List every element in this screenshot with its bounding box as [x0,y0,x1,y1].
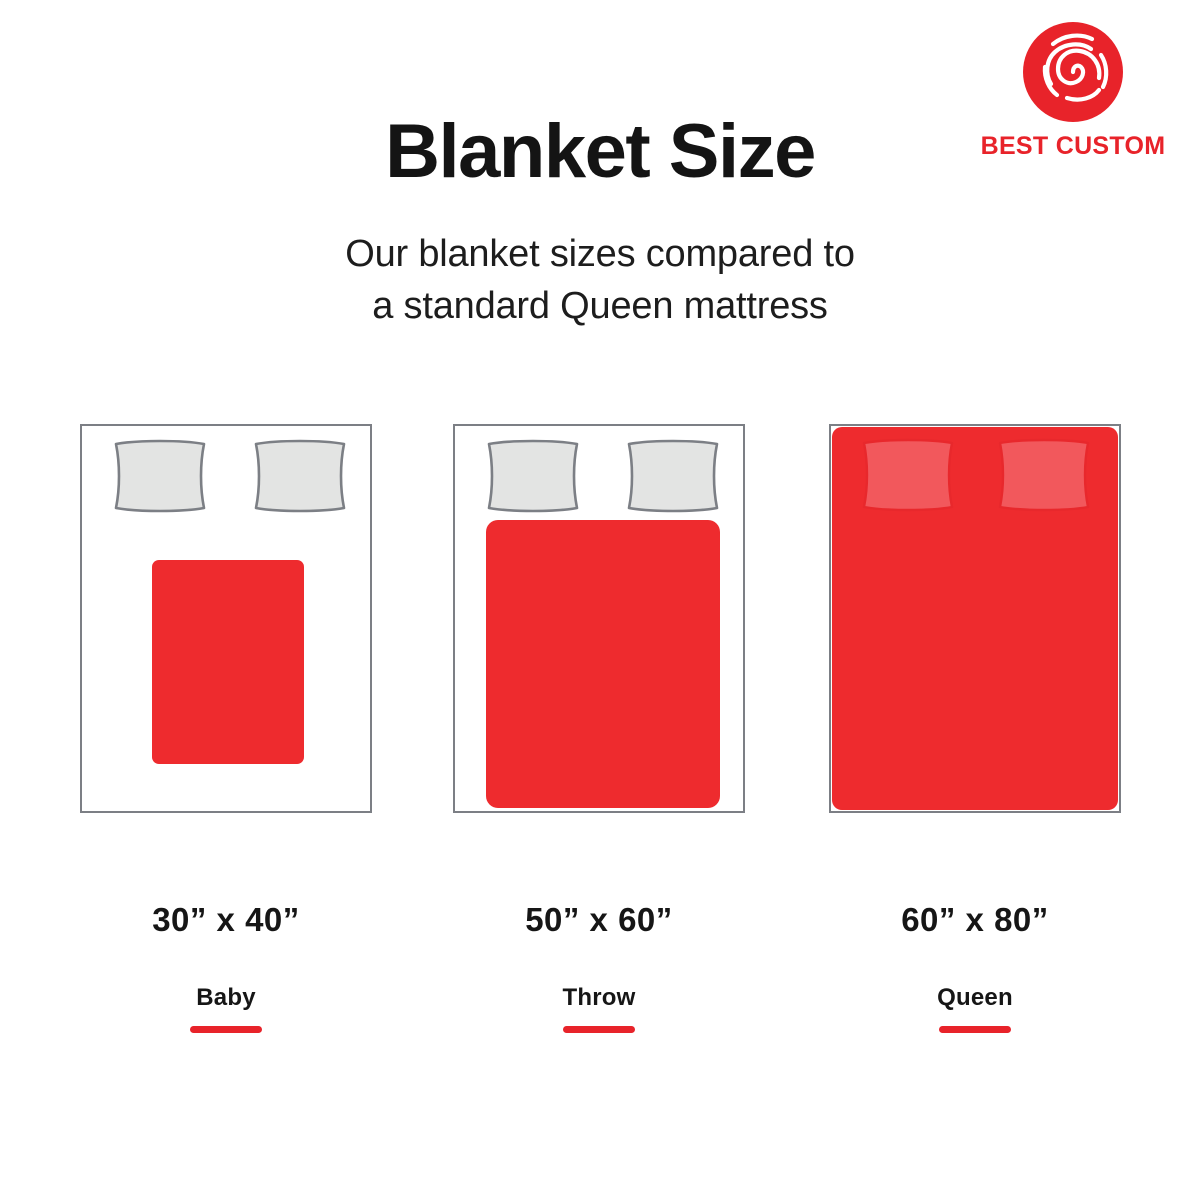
brand-mark-circle [1023,22,1123,122]
infographic-canvas: BEST CUSTOM Blanket Size Our blanket siz… [0,0,1200,1200]
page-subtitle-line-1: Our blanket sizes compared to [0,228,1200,280]
caption-dimensions: 60” x 80” [829,900,1121,940]
caption-underline [190,1026,262,1033]
pillow-right-icon [621,438,725,514]
caption-name: Throw [453,984,745,1012]
bed-diagram-queen [829,424,1121,813]
caption-dimensions: 50” x 60” [453,900,745,940]
caption-name: Queen [829,984,1121,1012]
caption-name: Baby [80,984,372,1012]
caption-throw: 50” x 60” Throw [453,900,745,1033]
fingerprint-icon [1023,22,1123,122]
blanket-baby [152,560,304,764]
page-subtitle: Our blanket sizes compared to a standard… [0,228,1200,332]
caption-underline [563,1026,635,1033]
pillow-right-icon [992,437,1096,513]
bed-comparison-row [0,424,1200,814]
pillow-left-icon [481,438,585,514]
page-subtitle-line-2: a standard Queen mattress [0,280,1200,332]
pillow-right-icon [248,438,352,514]
pillow-left-icon [108,438,212,514]
caption-dimensions: 30” x 40” [80,900,372,940]
bed-diagram-baby [80,424,372,813]
caption-baby: 30” x 40” Baby [80,900,372,1033]
blanket-throw [486,520,720,808]
bed-diagram-throw [453,424,745,813]
page-title: Blanket Size [0,108,1200,196]
caption-row: 30” x 40” Baby 50” x 60” Throw 60” x 80”… [0,900,1200,1040]
pillow-left-icon [856,437,960,513]
blanket-queen [832,427,1118,810]
caption-underline [939,1026,1011,1033]
caption-queen: 60” x 80” Queen [829,900,1121,1033]
